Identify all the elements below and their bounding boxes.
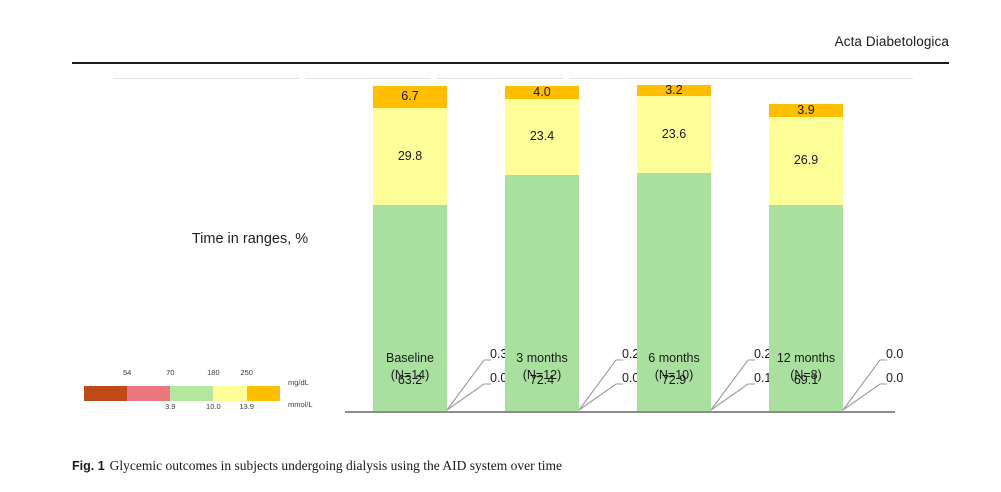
range-legend: 5470180250 3.910.013.9 mg/dL mmol/L	[84, 378, 314, 424]
bar-segment-high[interactable]: 23.6	[637, 96, 711, 173]
legend-unit-mgdl: mg/dL	[288, 378, 309, 387]
legend-tick-mgdl-180: 180	[207, 368, 220, 377]
bar-segment-very-high[interactable]: 6.7	[373, 86, 447, 108]
figure-caption-text: Glycemic outcomes in subjects undergoing…	[110, 458, 562, 473]
legend-segment-4	[247, 386, 280, 401]
legend-tick-mgdl-54: 54	[123, 368, 131, 377]
header-divider	[72, 62, 949, 64]
bar-segment-high[interactable]: 23.4	[505, 99, 579, 175]
journal-name: Acta Diabetologica	[835, 34, 949, 49]
legend-tick-mmoll-10.0: 10.0	[206, 402, 221, 411]
legend-tick-mmoll-3.9: 3.9	[165, 402, 175, 411]
legend-segment-3	[213, 386, 246, 401]
x-tick-baseline: Baseline (N=14)	[350, 350, 470, 383]
x-tick-12-months: 12 months (N=8)	[746, 350, 866, 383]
legend-color-bar	[84, 386, 280, 401]
legend-segment-1	[127, 386, 170, 401]
x-axis-line	[345, 411, 895, 414]
figure-number: Fig. 1	[72, 459, 105, 473]
bar-segment-high[interactable]: 26.9	[769, 117, 843, 205]
legend-unit-mmoll: mmol/L	[288, 400, 313, 409]
x-tick-6-months: 6 months (N=10)	[614, 350, 734, 383]
bar-segment-very-high[interactable]: 4.0	[505, 86, 579, 99]
x-axis-labels: Baseline (N=14) 3 months (N=12) 6 months…	[345, 350, 895, 390]
x-tick-3-months: 3 months (N=12)	[482, 350, 602, 383]
legend-tick-mgdl-70: 70	[166, 368, 174, 377]
figure-caption: Fig. 1Glycemic outcomes in subjects unde…	[72, 458, 949, 474]
bar-segment-high[interactable]: 29.8	[373, 108, 447, 205]
legend-segment-0	[84, 386, 127, 401]
legend-segment-2	[170, 386, 213, 401]
bar-segment-very-high[interactable]: 3.2	[637, 85, 711, 96]
legend-tick-mgdl-250: 250	[240, 368, 253, 377]
y-axis-title: Time in ranges, %	[170, 231, 330, 247]
bar-segment-very-high[interactable]: 3.9	[769, 104, 843, 117]
legend-tick-mmoll-13.9: 13.9	[239, 402, 254, 411]
